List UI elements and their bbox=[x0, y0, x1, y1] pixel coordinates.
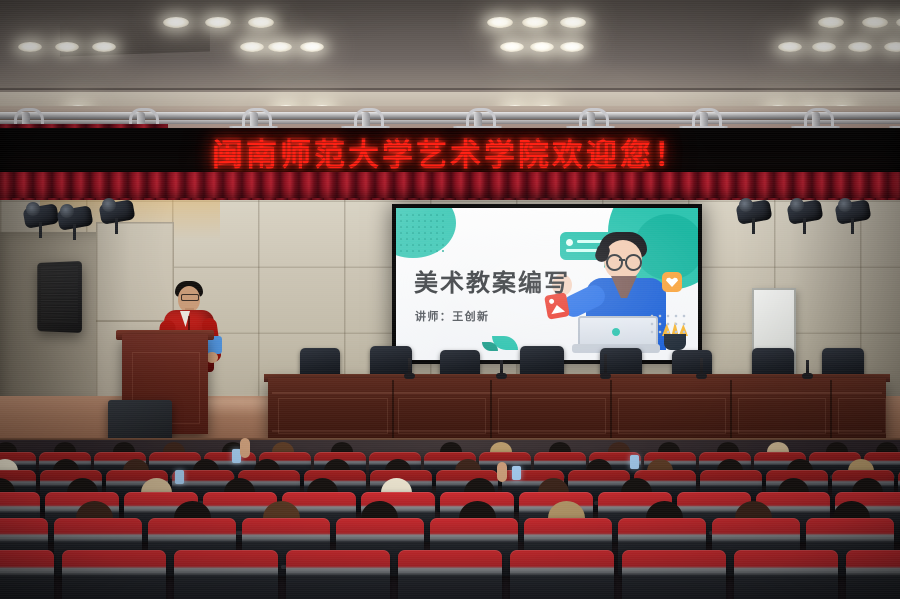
auditorium-seat bbox=[62, 550, 166, 599]
head-table-seam bbox=[392, 380, 394, 438]
head-table-rail-upper bbox=[272, 392, 882, 394]
ceiling-downlight bbox=[522, 17, 548, 28]
auditorium-seat bbox=[174, 550, 278, 599]
audience-phone-screen bbox=[630, 455, 639, 469]
ceiling-downlight bbox=[240, 42, 264, 52]
wall-spotlight-stem bbox=[73, 224, 76, 240]
auditorium-photo: 闽南师范大学艺术学院欢迎您！ bbox=[0, 0, 900, 599]
auditorium-seat bbox=[846, 550, 900, 599]
ceiling-downlight bbox=[300, 42, 324, 52]
ceiling-downlight bbox=[530, 42, 554, 52]
slide-glare bbox=[396, 208, 698, 360]
auditorium-seat bbox=[0, 550, 54, 599]
presenter-glasses bbox=[181, 294, 199, 301]
wall-spotlight-stem bbox=[39, 222, 42, 238]
ceiling-downlight bbox=[268, 42, 292, 52]
audience-raised-hand bbox=[240, 438, 250, 458]
wall-spotlight-lens bbox=[60, 204, 74, 218]
head-table-panel bbox=[398, 398, 486, 434]
auditorium-seat bbox=[510, 550, 614, 599]
ceiling-downlight bbox=[205, 17, 231, 28]
projection-screen: 美术教案编写 讲师：王创新 bbox=[392, 204, 702, 364]
head-table-panel bbox=[838, 398, 886, 434]
wall-spotlight-stem bbox=[115, 218, 118, 234]
wall-spotlight-stem bbox=[752, 218, 755, 234]
auditorium-seat bbox=[734, 550, 838, 599]
ceiling-downlight bbox=[248, 17, 274, 28]
audience-raised-hand bbox=[497, 462, 507, 482]
wall-spotlight bbox=[737, 196, 771, 234]
audience-phone-screen bbox=[175, 470, 184, 484]
wall-spotlight-lens bbox=[102, 198, 116, 212]
ceiling-downlight bbox=[812, 42, 836, 52]
ceiling-downlight bbox=[55, 42, 79, 52]
wall-spotlight bbox=[58, 202, 92, 240]
wall-spotlight bbox=[836, 196, 870, 234]
microphone-base bbox=[802, 373, 813, 379]
ceiling-downlight bbox=[848, 42, 872, 52]
ceiling-downlight bbox=[92, 42, 116, 52]
microphone-base bbox=[404, 373, 415, 379]
head-table-panel bbox=[278, 398, 388, 434]
led-banner: 闽南师范大学艺术学院欢迎您！ bbox=[0, 128, 900, 176]
head-table-seam bbox=[730, 380, 732, 438]
head-table-seam bbox=[610, 380, 612, 438]
audience-phone-screen bbox=[512, 466, 521, 480]
ceiling-downlight bbox=[487, 17, 513, 28]
ceiling-downlight bbox=[862, 17, 888, 28]
wall-spotlight-stem bbox=[803, 218, 806, 234]
auditorium-seat bbox=[398, 550, 502, 599]
head-table-seam bbox=[490, 380, 492, 438]
head-table-panel bbox=[738, 398, 826, 434]
microphone-base bbox=[696, 373, 707, 379]
ceiling-downlight bbox=[18, 42, 42, 52]
wall-spotlight-lens bbox=[838, 198, 852, 212]
ceiling-downlight bbox=[163, 17, 189, 28]
wall-spotlight bbox=[100, 196, 134, 234]
wall-spotlight-lens bbox=[790, 198, 804, 212]
wall-spotlight bbox=[24, 200, 58, 238]
ceiling-downlight bbox=[778, 42, 802, 52]
ceiling-downlight bbox=[560, 17, 586, 28]
ceiling-downlight bbox=[560, 42, 584, 52]
wall-spotlight-lens bbox=[26, 202, 40, 216]
auditorium-seat bbox=[622, 550, 726, 599]
microphone-base bbox=[600, 373, 611, 379]
ceiling-seam bbox=[0, 88, 900, 90]
head-table-panel bbox=[618, 398, 726, 434]
ceiling-downlight bbox=[500, 42, 524, 52]
auditorium-seat bbox=[286, 550, 390, 599]
head-table-seam bbox=[830, 380, 832, 438]
wall-spotlight-stem bbox=[851, 218, 854, 234]
presentation-slide: 美术教案编写 讲师：王创新 bbox=[396, 208, 698, 360]
led-banner-scanlines bbox=[0, 128, 900, 176]
wall-spotlight bbox=[788, 196, 822, 234]
ceiling-downlight bbox=[818, 17, 844, 28]
microphone-base bbox=[496, 373, 507, 379]
wall-spotlight-lens bbox=[739, 198, 753, 212]
head-table-panel bbox=[498, 398, 606, 434]
